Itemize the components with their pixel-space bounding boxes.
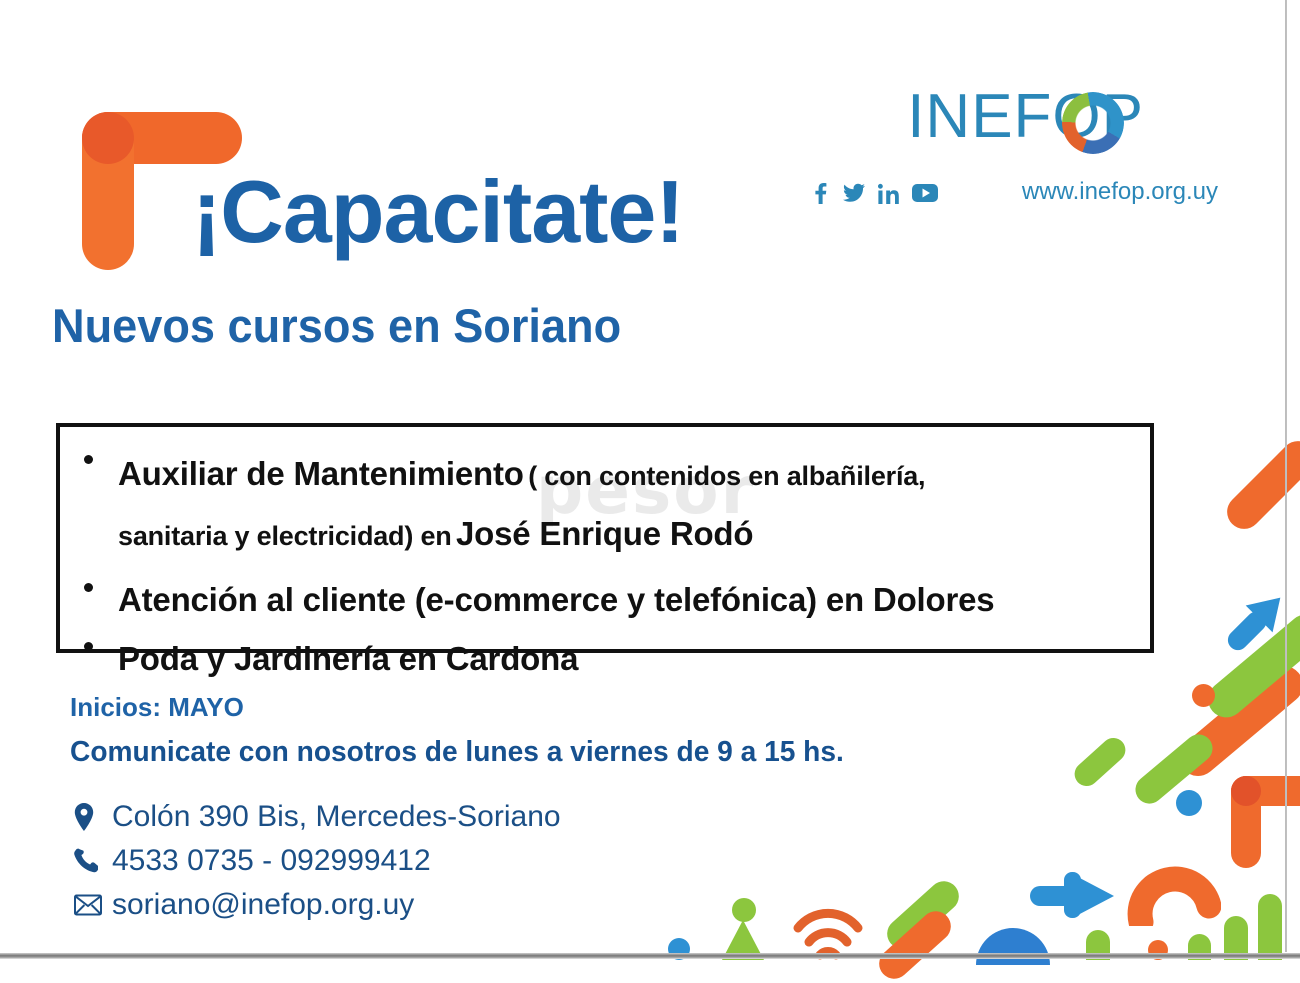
contact-phone-text: 4533 0735 - 092999412 [112,844,431,878]
list-item: Atención al cliente (e-commerce y telefó… [70,575,1144,632]
list-item: Poda y Jardinería en Cardona [70,634,1144,691]
logo-corner-knuckle [82,112,134,164]
deco-person-green [722,898,764,960]
deco-bar-green [1130,729,1218,810]
list-item: Auxiliar de Mantenimiento ( con contenid… [70,447,1144,567]
deco-semicircle-blue [976,925,1050,965]
deco-plus-blue [1046,872,1098,918]
envelope-icon [74,894,112,916]
courses-box: Auxiliar de Mantenimiento ( con contenid… [56,423,1154,653]
courses-list: Auxiliar de Mantenimiento ( con contenid… [70,435,1144,691]
contact-email-text: soriano@inefop.org.uy [112,888,414,922]
start-date-text: Inicios: MAYO [70,692,244,723]
linkedin-icon[interactable] [878,183,899,204]
deco-bar-orange [873,905,957,983]
hours-text: Comunicate con nosotros de lunes a viern… [70,736,844,769]
deco-dot-blue [1176,790,1202,816]
page-frame-right [1285,0,1287,952]
contact-address-row: Colón 390 Bis, Mercedes-Soriano [74,795,561,839]
deco-bar-green [881,875,965,955]
deco-chartbar [1258,894,1282,960]
youtube-icon[interactable] [912,183,938,203]
bullet-dot-icon [84,642,93,651]
location-pin-icon [74,803,112,831]
brand-ring-icon [1062,92,1124,154]
contact-list: Colón 390 Bis, Mercedes-Soriano 4533 073… [74,795,561,927]
deco-wifi-orange [792,902,864,960]
course-name: Poda y Jardinería en Cardona [118,640,578,677]
course-name: Atención al cliente (e-commerce y telefó… [118,581,994,618]
deco-arc-orange [1125,842,1221,926]
social-links [810,182,938,204]
page-title: ¡Capacitate! [192,168,684,256]
deco-bar-orange [1220,434,1300,536]
contact-address-text: Colón 390 Bis, Mercedes-Soriano [112,800,561,834]
course-location: José Enrique Rodó [456,515,753,552]
facebook-icon[interactable] [810,182,830,204]
course-detail-line2: sanitaria y electricidad) en [118,521,452,551]
page-subtitle: Nuevos cursos en Soriano [52,302,621,349]
course-detail: ( con contenidos en albañilería, [528,461,925,491]
twitter-icon[interactable] [843,183,865,203]
page-frame-bottom [0,953,1300,959]
deco-arrow-blue-right [1030,872,1116,920]
phone-icon [74,848,112,874]
deco-bar-orange [1171,658,1300,784]
brand-website-url: www.inefop.org.uy [1022,180,1218,204]
contact-email-row: soriano@inefop.org.uy [74,883,561,927]
bullet-dot-icon [84,583,93,592]
course-name: Auxiliar de Mantenimiento [118,455,524,492]
inefop-brand-block: INEFOP www.inefop.org.uy [858,86,1218,206]
deco-corner-orange [1231,776,1300,868]
poster-canvas: ¡Capacitate! Nuevos cursos en Soriano IN… [0,0,1300,983]
deco-dot-orange [1192,684,1215,707]
bullet-dot-icon [84,455,93,464]
deco-bar-green [1070,733,1131,791]
contact-phone-row: 4533 0735 - 092999412 [74,839,561,883]
